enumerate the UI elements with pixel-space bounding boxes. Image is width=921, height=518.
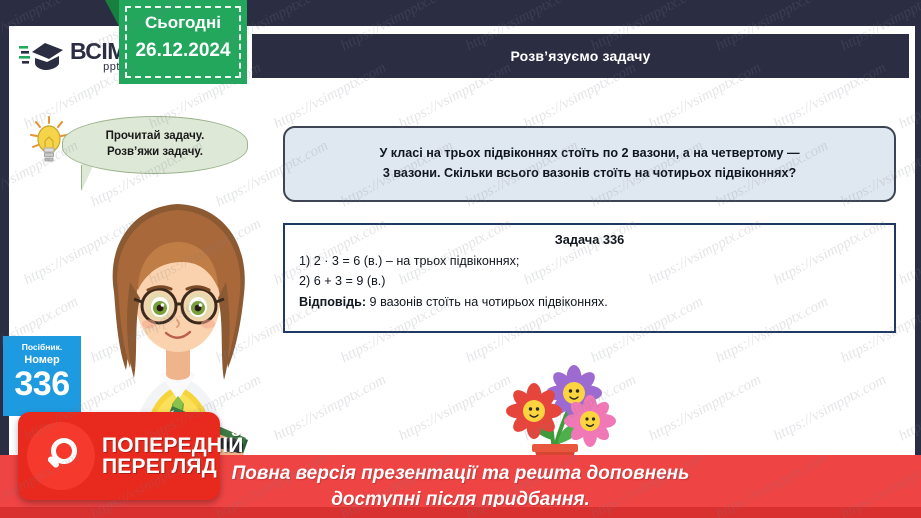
problem-statement-box: У класі на трьох підвіконнях стоїть по 2… bbox=[283, 126, 896, 202]
answer-text: 9 вазонів стоїть на чотирьох підвіконнях… bbox=[366, 295, 608, 309]
answer-label: Відповідь: bbox=[299, 295, 366, 309]
today-date: 26.12.2024 bbox=[119, 40, 247, 62]
preview-line-2: ПЕРЕГЛЯД bbox=[102, 456, 244, 477]
solution-step-2: 2) 6 + 3 = 9 (в.) bbox=[299, 271, 880, 291]
hint-line-2: Розв’яжи задачу. bbox=[107, 145, 203, 161]
problem-line-1: У класі на трьох підвіконнях стоїть по 2… bbox=[379, 144, 799, 164]
right-frame-strip bbox=[915, 0, 921, 518]
preview-badge-text: ПОПЕРЕДНІЙ ПЕРЕГЛЯД bbox=[102, 435, 244, 478]
watermark-text: https://vsimpptx.com bbox=[771, 372, 889, 445]
hint-bubble: Прочитай задачу. Розв’яжи задачу. bbox=[62, 116, 248, 174]
task-number: 336 bbox=[3, 367, 81, 402]
watermark-text: https://vsimpptx.com bbox=[646, 372, 764, 445]
preview-line-1: ПОПЕРЕДНІЙ bbox=[102, 435, 244, 456]
banner-line-1: Повна версія презентації та решта доповн… bbox=[232, 461, 690, 486]
workbook-label: Посібник. bbox=[3, 342, 81, 353]
slide-canvas: ВСІМ pptx Сьогодні 26.12.2024 Розв’язуєм… bbox=[0, 0, 921, 518]
hint-line-1: Прочитай задачу. bbox=[106, 129, 205, 145]
today-label: Сьогодні bbox=[119, 13, 247, 33]
solution-step-1: 1) 2 · 3 = 6 (в.) – на трьох підвіконнях… bbox=[299, 251, 880, 271]
solution-answer: Відповідь: 9 вазонів стоїть на чотирьох … bbox=[299, 292, 880, 312]
solution-title: Задача 336 bbox=[299, 232, 880, 247]
today-date-badge: Сьогодні 26.12.2024 bbox=[119, 0, 247, 84]
preview-badge: ПОПЕРЕДНІЙ ПЕРЕГЛЯД bbox=[18, 412, 220, 500]
solution-box: Задача 336 1) 2 · 3 = 6 (в.) – на трьох … bbox=[283, 223, 896, 333]
problem-line-2: 3 вазони. Скільки всього вазонів стоїть … bbox=[383, 164, 796, 184]
hint-bubble-group: Прочитай задачу. Розв’яжи задачу. bbox=[26, 114, 248, 194]
magnifier-icon bbox=[27, 422, 95, 490]
watermark-text: https://vsimpptx.com bbox=[271, 372, 389, 445]
left-frame-strip bbox=[0, 0, 9, 518]
page-title: Розв’язуємо задачу bbox=[510, 48, 650, 64]
logo-name: ВСІМ bbox=[70, 40, 126, 63]
slide-title-bar: Розв’язуємо задачу bbox=[252, 34, 909, 78]
workbook-number-badge: Посібник. Номер 336 bbox=[3, 336, 81, 416]
badge-ribbon-fold bbox=[105, 0, 119, 26]
banner-bottom-stripe bbox=[0, 507, 921, 518]
flower-pot-illustration bbox=[490, 352, 618, 468]
graduation-cap-icon bbox=[19, 39, 67, 73]
